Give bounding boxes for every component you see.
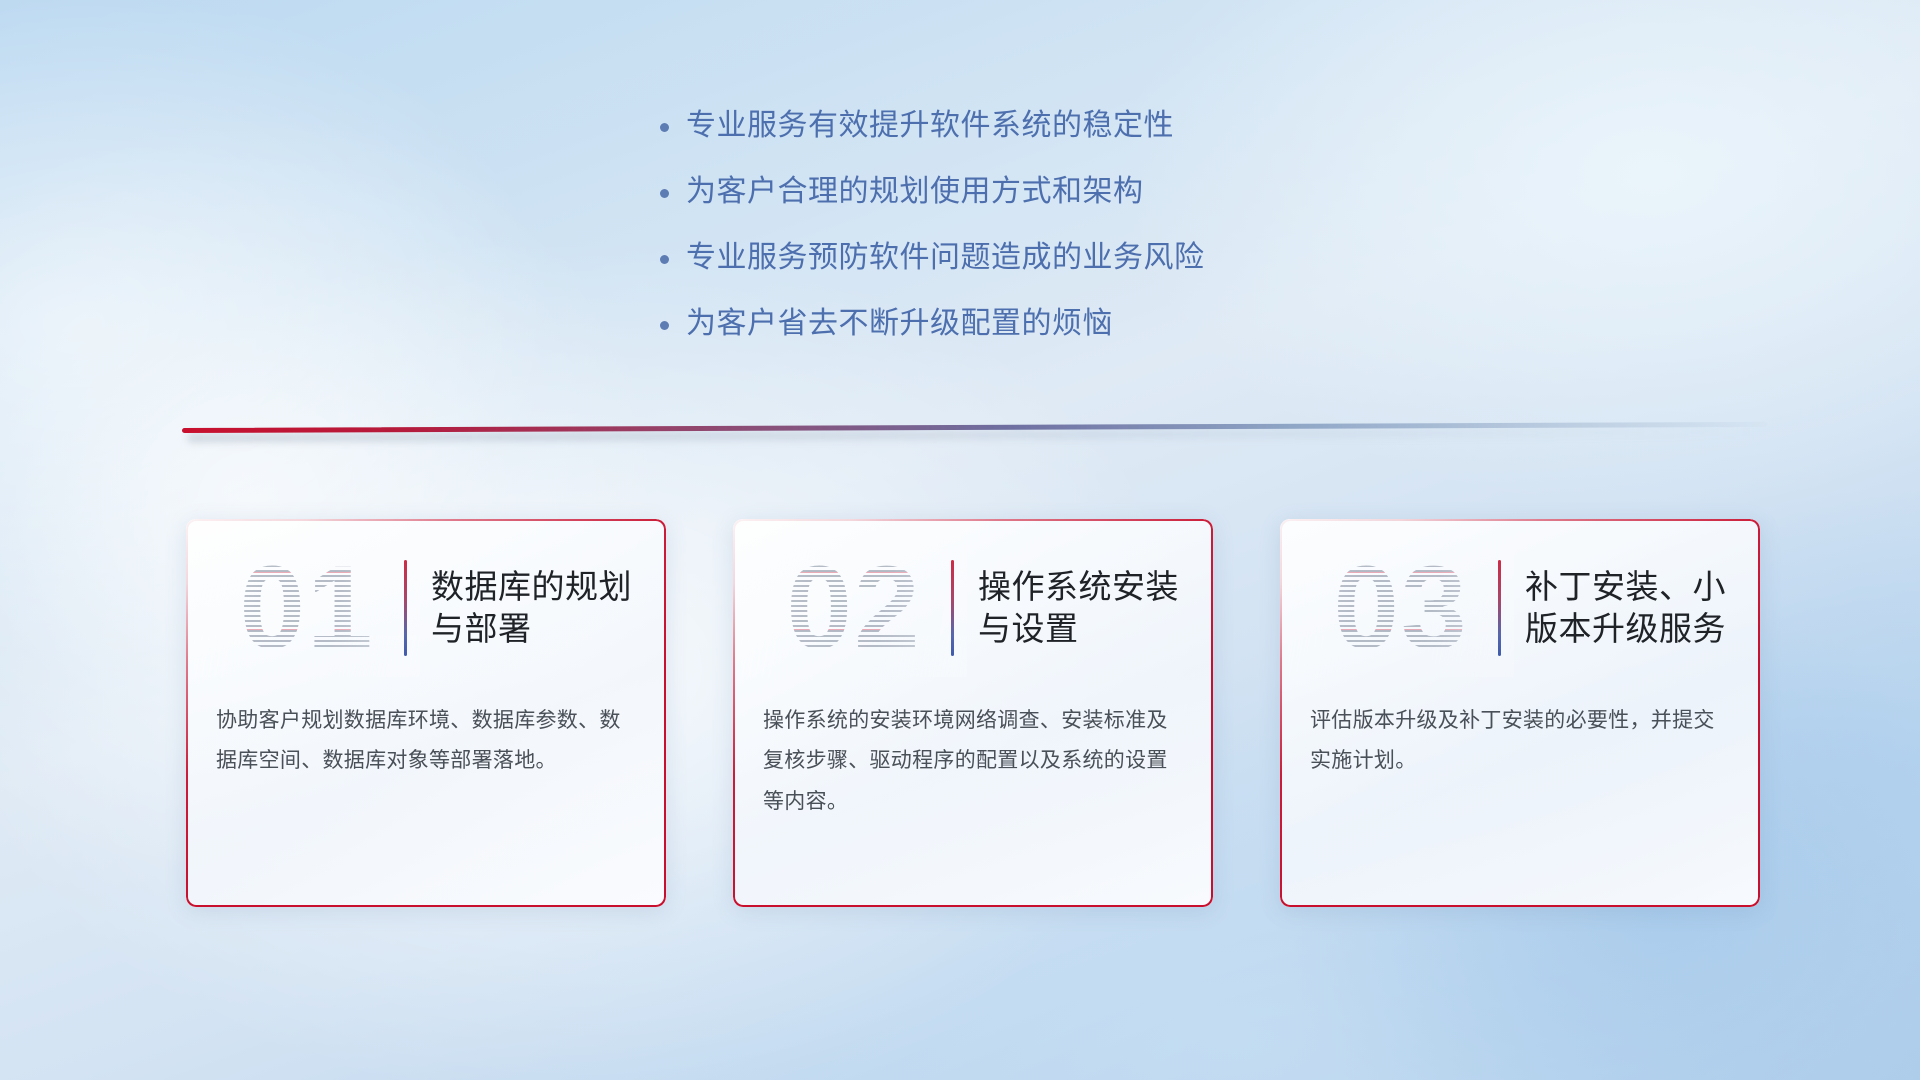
bullet-text: 专业服务预防软件问题造成的业务风险 xyxy=(686,240,1205,276)
card-accent-bar xyxy=(951,560,954,656)
bullet-text: 为客户合理的规划使用方式和架构 xyxy=(686,174,1144,210)
list-item: 为客户省去不断升级配置的烦恼 xyxy=(660,306,1420,342)
section-divider xyxy=(182,424,1767,446)
bullet-text: 为客户省去不断升级配置的烦恼 xyxy=(686,306,1113,342)
card-number-watermark: 01 xyxy=(214,545,400,671)
card-body-text: 评估版本升级及补丁安装的必要性，并提交实施计划。 xyxy=(1280,697,1760,782)
card-accent-bar xyxy=(1498,560,1501,656)
card-number-watermark: 02 xyxy=(761,545,947,671)
card-title: 补丁安装、小版本升级服务 xyxy=(1525,566,1760,650)
list-item: 专业服务有效提升软件系统的稳定性 xyxy=(660,108,1420,144)
card-body-text: 操作系统的安装环境网络调查、安装标准及复核步骤、驱动程序的配置以及系统的设置等内… xyxy=(733,697,1213,822)
bullet-dot-icon xyxy=(660,176,686,202)
slide-canvas: 专业服务有效提升软件系统的稳定性 为客户合理的规划使用方式和架构 专业服务预防软… xyxy=(0,0,1920,1080)
card-header: 01 数据库的规划与部署 xyxy=(186,519,666,697)
service-card[interactable]: 03 补丁安装、小版本升级服务 评估版本升级及补丁安装的必要性，并提交实施计划。 xyxy=(1280,519,1760,907)
service-card[interactable]: 01 数据库的规划与部署 协助客户规划数据库环境、数据库参数、数据库空间、数据库… xyxy=(186,519,666,907)
service-card[interactable]: 02 操作系统安装与设置 操作系统的安装环境网络调查、安装标准及复核步骤、驱动程… xyxy=(733,519,1213,907)
list-item: 专业服务预防软件问题造成的业务风险 xyxy=(660,240,1420,276)
list-item: 为客户合理的规划使用方式和架构 xyxy=(660,174,1420,210)
card-title: 操作系统安装与设置 xyxy=(978,566,1213,650)
benefits-bullet-list: 专业服务有效提升软件系统的稳定性 为客户合理的规划使用方式和架构 专业服务预防软… xyxy=(660,108,1420,372)
card-title: 数据库的规划与部署 xyxy=(431,566,666,650)
card-body-text: 协助客户规划数据库环境、数据库参数、数据库空间、数据库对象等部署落地。 xyxy=(186,697,666,782)
card-header: 03 补丁安装、小版本升级服务 xyxy=(1280,519,1760,697)
bullet-dot-icon xyxy=(660,110,686,136)
card-number-watermark: 03 xyxy=(1308,545,1494,671)
card-accent-bar xyxy=(404,560,407,656)
bullet-text: 专业服务有效提升软件系统的稳定性 xyxy=(686,108,1174,144)
bullet-dot-icon xyxy=(660,242,686,268)
card-header: 02 操作系统安装与设置 xyxy=(733,519,1213,697)
bullet-dot-icon xyxy=(660,308,686,334)
